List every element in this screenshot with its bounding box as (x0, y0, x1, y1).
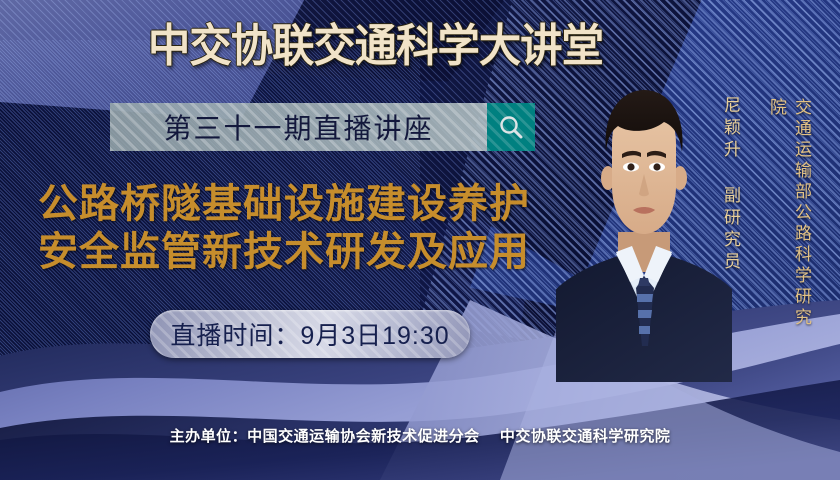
headline-line-2: 安全监管新技术研发及应用 (38, 228, 578, 276)
episode-bar-body: 第三十一期直播讲座 (110, 103, 487, 151)
headline-line-1: 公路桥隧基础设施建设养护 (38, 180, 578, 228)
episode-label: 第三十一期直播讲座 (163, 107, 433, 147)
speaker-organization: 交通运输部公路科学研究院 (764, 98, 814, 346)
search-icon[interactable] (487, 103, 535, 151)
broadcast-time-pill: 直播时间：9月3日19:30 (150, 310, 470, 358)
main-title: 中交协联交通科学大讲堂 (148, 18, 603, 74)
webinar-poster: 中交协联交通科学大讲堂 第三十一期直播讲座 公路桥隧基础设施建设养护 安全监管新… (0, 0, 840, 480)
headline: 公路桥隧基础设施建设养护 安全监管新技术研发及应用 (38, 180, 578, 276)
broadcast-time-label: 直播时间：9月3日19:30 (170, 316, 449, 352)
speaker-name-title: 尼颖升 副研究员 (718, 96, 743, 286)
organizer-footer: 主办单位：中国交通运输协会新技术促进分会 中交协联交通科学研究院 (0, 425, 840, 446)
episode-bar: 第三十一期直播讲座 (110, 103, 535, 151)
search-glyph (498, 114, 524, 140)
speaker-portrait (556, 82, 732, 382)
